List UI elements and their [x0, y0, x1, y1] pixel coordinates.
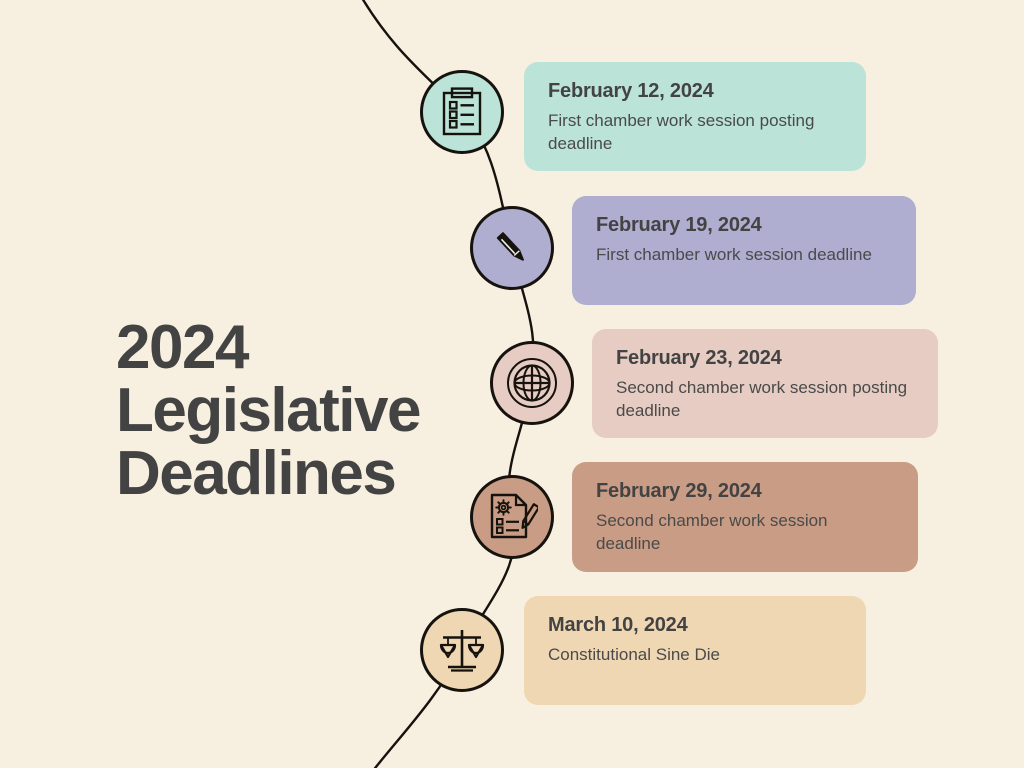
- document-gear-pencil-icon: [486, 492, 538, 542]
- infographic-canvas: 2024 Legislative Deadlines February 12, …: [0, 0, 1024, 768]
- timeline-description-1: First chamber work session posting deadl…: [548, 110, 842, 156]
- timeline-date-1: February 12, 2024: [548, 80, 842, 103]
- timeline-date-2: February 19, 2024: [596, 214, 892, 237]
- timeline-description-3: Second chamber work session posting dead…: [616, 377, 914, 423]
- timeline-date-3: February 23, 2024: [616, 347, 914, 370]
- timeline-card-2[interactable]: February 19, 2024 First chamber work ses…: [572, 196, 916, 305]
- title-line-2: Legislative: [116, 379, 506, 442]
- scales-of-justice-icon: [437, 626, 487, 674]
- pen-icon: [489, 225, 535, 271]
- globe-icon: [506, 357, 558, 409]
- timeline-node-3[interactable]: [490, 341, 574, 425]
- title-line-1: 2024: [116, 316, 506, 379]
- page-title: 2024 Legislative Deadlines: [116, 316, 506, 506]
- timeline-description-4: Second chamber work session deadline: [596, 510, 894, 556]
- timeline-node-1[interactable]: [420, 70, 504, 154]
- timeline-card-4[interactable]: February 29, 2024 Second chamber work se…: [572, 462, 918, 572]
- timeline-card-3[interactable]: February 23, 2024 Second chamber work se…: [592, 329, 938, 438]
- timeline-node-2[interactable]: [470, 206, 554, 290]
- timeline-node-4[interactable]: [470, 475, 554, 559]
- timeline-date-4: February 29, 2024: [596, 480, 894, 503]
- clipboard-checklist-icon: [439, 87, 485, 137]
- timeline-node-5[interactable]: [420, 608, 504, 692]
- timeline-date-5: March 10, 2024: [548, 614, 842, 637]
- timeline-description-2: First chamber work session deadline: [596, 244, 892, 267]
- timeline-card-1[interactable]: February 12, 2024 First chamber work ses…: [524, 62, 866, 171]
- timeline-description-5: Constitutional Sine Die: [548, 644, 842, 667]
- title-line-3: Deadlines: [116, 442, 506, 505]
- timeline-card-5[interactable]: March 10, 2024 Constitutional Sine Die: [524, 596, 866, 705]
